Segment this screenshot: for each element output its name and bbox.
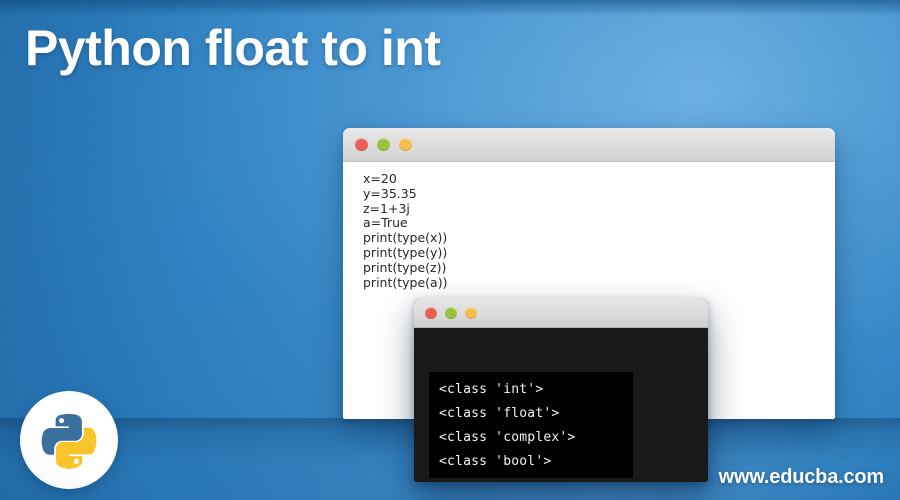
page-title: Python float to int	[25, 19, 440, 77]
code-editor-content[interactable]: x=20 y=35.35 z=1+3j a=True print(type(x)…	[343, 162, 835, 290]
terminal-body: <class 'int'> <class 'float'> <class 'co…	[414, 328, 708, 482]
screenshot-canvas: Python float to int x=20 y=35.35 z=1+3j …	[0, 0, 900, 500]
python-logo-icon	[38, 409, 100, 471]
minimize-button[interactable]	[377, 138, 390, 151]
terminal-console-panel[interactable]: <class 'int'> <class 'float'> <class 'co…	[429, 372, 633, 478]
terminal-output-line: <class 'complex'>	[439, 426, 633, 450]
watermark-url: www.educba.com	[719, 466, 884, 489]
terminal-titlebar[interactable]	[414, 298, 708, 328]
terminal-output-line: <class 'int'>	[439, 378, 633, 402]
terminal-output-line: <class 'bool'>	[439, 450, 633, 474]
code-line: z=1+3j	[363, 202, 835, 217]
close-button[interactable]	[355, 138, 368, 151]
code-line: print(type(z))	[363, 261, 835, 276]
terminal-output-line: <class 'float'>	[439, 402, 633, 426]
code-line: a=True	[363, 216, 835, 231]
code-line: y=35.35	[363, 187, 835, 202]
close-button[interactable]	[425, 307, 437, 319]
code-line: print(type(a))	[363, 276, 835, 291]
code-line: print(type(y))	[363, 246, 835, 261]
code-line: x=20	[363, 172, 835, 187]
code-window-titlebar[interactable]	[343, 128, 835, 162]
maximize-button[interactable]	[399, 138, 412, 151]
minimize-button[interactable]	[445, 307, 457, 319]
python-logo	[20, 391, 118, 489]
code-line: print(type(x))	[363, 231, 835, 246]
terminal-output-window[interactable]: <class 'int'> <class 'float'> <class 'co…	[414, 298, 708, 482]
background-top-shadow	[0, 0, 900, 16]
maximize-button[interactable]	[465, 307, 477, 319]
